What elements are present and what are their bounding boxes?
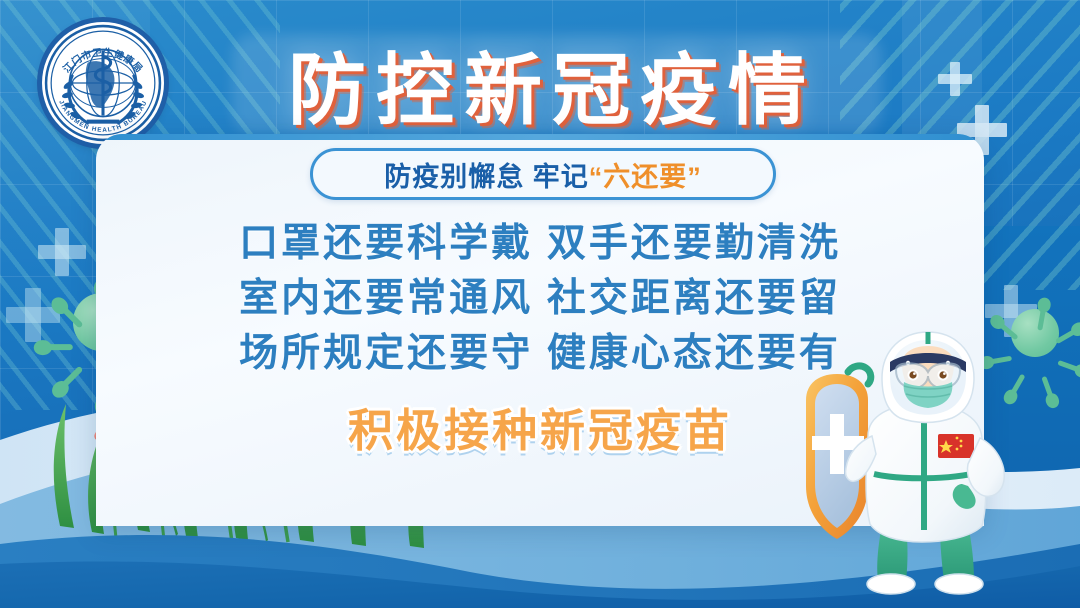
health-bureau-emblem-icon: 江门市卫生健康局 JIANGMEN HEALTH BUREAU — [42, 22, 164, 144]
subtitle-prefix: 防疫别懈怠 牢记 — [384, 162, 589, 192]
card-top-accent-bar — [96, 134, 984, 140]
page-title: 防控新冠疫情 — [222, 36, 882, 132]
head-with-ppe — [882, 332, 974, 423]
subtitle-highlight: 六还要 — [603, 162, 687, 192]
plus-icon-left-upper — [38, 228, 86, 276]
subtitle-text: 防疫别懈怠 牢记“六还要” — [384, 155, 702, 194]
slogan-line-1: 口罩还要科学戴 双手还要勤清洗 — [96, 216, 984, 271]
subtitle-quote-open: “ — [589, 162, 604, 192]
subtitle-quote-close: ” — [687, 162, 702, 192]
logo[interactable]: 江门市卫生健康局 JIANGMEN HEALTH BUREAU — [42, 22, 164, 144]
poster-canvas: 江门市卫生健康局 JIANGMEN HEALTH BUREAU 防控新冠疫情 防… — [0, 0, 1080, 608]
subtitle-pill: 防疫别懈怠 牢记“六还要” — [310, 148, 776, 200]
medical-worker-illustration — [790, 318, 1080, 608]
plus-icon-right-upper — [938, 62, 972, 96]
